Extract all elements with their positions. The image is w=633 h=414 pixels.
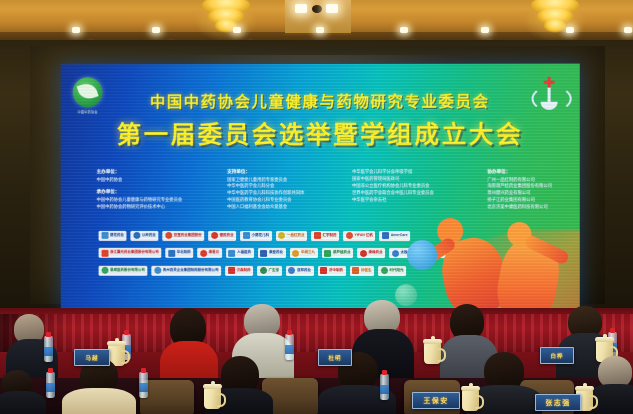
- sponsor-logo-mark-icon: [260, 267, 267, 274]
- credit-line: 中华医学会儿科学分会呼吸学组: [352, 169, 474, 176]
- sponsor-logo-name: 健民药业: [220, 234, 234, 238]
- sponsor-logo-mark-icon: [154, 267, 161, 274]
- sponsor-logo-mark-icon: [200, 249, 207, 256]
- sponsor-logo-mark-icon: [211, 232, 218, 239]
- sponsor-logo-mark-icon: [168, 249, 175, 256]
- bottle-cap: [141, 368, 146, 373]
- credit-heading: 承办单位：: [97, 189, 215, 195]
- projector-lamp-right-icon: [326, 4, 338, 13]
- banner-title-line1: 中国中药协会儿童健康与药物研究专业委员会: [61, 90, 580, 113]
- sponsor-logo-name: 华润三九: [301, 251, 315, 255]
- sponsor-logo-mark-icon: [101, 232, 108, 239]
- sponsor-logo: YIFAN 亿帆: [343, 231, 375, 241]
- sponsor-logo: 人福医药: [226, 248, 254, 258]
- tea-cup: [462, 390, 479, 411]
- bottle-cap: [48, 368, 53, 373]
- sponsor-logo-mark-icon: [314, 232, 321, 239]
- credit-line: 中国中药协会儿童健康与药物研究专业委员会: [97, 197, 215, 204]
- conference-hall-photo: 中国中药协会 中国中药协会儿童健康与药物研究专业委员会 第一届委员会选举暨学组成…: [0, 0, 633, 414]
- sponsor-logo-name: 贵州百灵企业集团制药股份有限公司: [163, 269, 219, 273]
- sponsor-logo-mark-icon: [165, 232, 172, 239]
- credit-line: 国家中医药管理局医政司: [352, 176, 474, 183]
- sponsor-logo: 恩威医药股份有限公司: [99, 265, 148, 275]
- credit-heading: 支持单位：: [227, 169, 339, 175]
- cup-knob: [431, 336, 435, 340]
- sponsor-logo-mark-icon: [228, 267, 235, 274]
- water-bottle: [44, 336, 53, 362]
- person-body: [0, 391, 46, 414]
- sponsor-logo-name: YIFAN 亿帆: [355, 234, 373, 238]
- chandelier-left: [198, 0, 254, 40]
- chair-back: [140, 380, 194, 414]
- name-placard-text: 张志强: [545, 398, 570, 408]
- sponsor-logo: 汉森制药: [225, 265, 253, 275]
- name-placard-text: 白桦: [550, 352, 563, 360]
- downlight-icon: [233, 27, 241, 33]
- sponsor-logo-name: 汉森制药: [237, 269, 251, 273]
- sponsor-logo-name: 人福医药: [237, 251, 251, 255]
- downlight-icon: [481, 27, 489, 33]
- name-placard-text: 王保安: [423, 396, 448, 406]
- person-front-2: [62, 358, 136, 414]
- sponsor-logo-mark-icon: [382, 232, 389, 239]
- cup-knob: [211, 381, 215, 385]
- downlight-icon: [316, 27, 324, 33]
- sponsor-logo-name: 汇宇制药: [322, 234, 336, 238]
- cup-knob: [115, 338, 119, 342]
- downlight-icon: [72, 27, 80, 33]
- bottle-cap: [382, 370, 387, 375]
- sponsor-logo-name: 亚邦药业: [297, 269, 311, 273]
- sponsor-logo-name: 小葵花儿科: [252, 234, 269, 238]
- sponsor-logo-name: 一品红药业: [287, 234, 304, 238]
- sponsor-logo-mark-icon: [133, 232, 140, 239]
- credit-line: 中国中药协会: [97, 177, 215, 184]
- credit-line: 中国人口福利基金会幼众爱基金: [227, 204, 339, 211]
- bottle-label: [139, 383, 148, 392]
- sponsor-logo: 好医生: [350, 266, 375, 276]
- sponsor-logo-mark-icon: [324, 250, 331, 257]
- sponsor-logo-mark-icon: [346, 232, 353, 239]
- sponsor-logo-name: 浙江震元药业集团股份有限公司: [110, 251, 159, 255]
- name-placard-text: 杜明: [328, 354, 341, 362]
- sponsor-logo-name: 广生堂: [269, 269, 279, 273]
- downlight-icon: [624, 27, 632, 33]
- projector-lamp-left-icon: [295, 4, 307, 13]
- sponsor-logo: 以岭药业: [130, 230, 158, 240]
- tea-cup: [204, 388, 221, 409]
- sponsor-logo-mark-icon: [101, 267, 108, 274]
- bottle-cap: [46, 332, 51, 337]
- sponsor-logo: 康臣药业: [258, 248, 286, 258]
- sponsor-logo-name: 华北制药: [177, 251, 191, 255]
- banner-title-line2: 第一届委员会选举暨学组成立大会: [61, 116, 580, 151]
- led-banner-screen: 中国中药协会 中国中药协会儿童健康与药物研究专业委员会 第一届委员会选举暨学组成…: [61, 64, 580, 313]
- credit-heading: 主办单位：: [97, 169, 215, 175]
- sponsor-logo-mark-icon: [292, 249, 299, 256]
- decorative-figures-graphic: [395, 202, 580, 312]
- decorative-dot-blue: [407, 240, 437, 270]
- cup-knob: [603, 334, 607, 338]
- sponsor-logo-name: 以岭药业: [142, 234, 156, 238]
- name-placard-text: 马越: [85, 354, 98, 362]
- bottle-label: [380, 385, 389, 394]
- chandelier-right: [527, 0, 583, 40]
- sponsor-logo: 贵州百灵企业集团制药股份有限公司: [151, 265, 221, 275]
- bottle-cap: [287, 330, 292, 335]
- sponsor-logo-mark-icon: [352, 267, 359, 274]
- credit-line: 中国中药协会药物研究评价技术中心: [97, 204, 215, 211]
- cup-knob: [583, 383, 587, 387]
- name-placard: 王保安: [412, 392, 460, 409]
- sponsor-logo: 广生堂: [257, 265, 281, 275]
- sponsor-logo-mark-icon: [381, 267, 388, 274]
- sponsor-logo-mark-icon: [288, 267, 295, 274]
- water-bottle: [139, 372, 148, 398]
- sponsor-logo: 亚宝药业集团股份: [162, 230, 204, 240]
- person-front-1: [0, 370, 46, 414]
- bottle-label: [285, 345, 294, 354]
- sponsor-logo-name: 葵花药业: [110, 234, 124, 237]
- sponsor-logo-name: 康缘药业: [369, 251, 383, 255]
- credit-line: 世界中医药学会联合会中医儿科专业委员会: [352, 190, 474, 197]
- sponsor-logo: 济中制药: [318, 265, 346, 275]
- sponsor-logo: 葵花药业: [99, 230, 127, 240]
- credit-line: 中国非公立医疗机构协会儿科专业委员会: [352, 183, 474, 190]
- sponsor-logo-mark-icon: [228, 249, 235, 256]
- bottle-cap: [610, 328, 615, 333]
- person-body: [62, 388, 136, 414]
- credit-column-1: 主办单位：中国中药协会承办单位：中国中药协会儿童健康与药物研究专业委员会中国中药…: [97, 169, 215, 225]
- bottle-label: [44, 347, 53, 356]
- tea-cup: [424, 343, 441, 364]
- sponsor-logo: 华北制药: [165, 248, 193, 258]
- credit-heading: 协办单位：: [487, 169, 579, 175]
- credit-column-2: 支持单位：国家卫健委儿童用药专家委员会中华中医药学会儿科分会中华中医药学会儿科科…: [227, 169, 339, 225]
- sponsor-logo-name: 葫芦娃药业: [333, 251, 351, 255]
- downlight-icon: [400, 27, 408, 33]
- sponsor-logo-mark-icon: [360, 250, 367, 257]
- sponsor-logo-mark-icon: [320, 267, 327, 274]
- sponsor-logo: 葫芦娃药业: [321, 248, 353, 258]
- sponsor-logo-name: 康恩贝: [209, 251, 219, 255]
- sponsor-logo-mark-icon: [278, 232, 285, 239]
- sponsor-logo-name: 亚宝药业集团股份: [174, 234, 202, 238]
- water-bottle: [46, 372, 55, 398]
- sponsor-logo: 汇宇制药: [311, 230, 339, 240]
- sponsor-logo-name: 康臣药业: [269, 251, 283, 255]
- water-bottle: [380, 374, 389, 400]
- bottle-label: [46, 383, 55, 392]
- sponsor-logo-name: 恩威医药股份有限公司: [110, 269, 145, 273]
- name-placard: 杜明: [318, 349, 352, 366]
- downlight-icon: [152, 27, 160, 33]
- name-placard: 马越: [74, 349, 110, 366]
- water-bottle: [285, 334, 294, 360]
- sponsor-logo-mark-icon: [243, 232, 250, 239]
- sponsor-logo-mark-icon: [260, 249, 267, 256]
- sponsor-logo-mark-icon: [101, 249, 108, 256]
- sponsor-logo: 康缘药业: [357, 248, 385, 258]
- sponsor-logo: 浙江震元药业集团股份有限公司: [99, 248, 162, 258]
- cup-knob: [469, 383, 473, 387]
- sponsor-logo-name: 济中制药: [329, 269, 343, 273]
- sponsor-logo: 亚邦药业: [286, 265, 314, 275]
- sponsor-logo: 一品红药业: [276, 230, 307, 240]
- projector-lens-icon: [312, 5, 322, 13]
- downlight-icon: [566, 27, 574, 33]
- bottle-cap: [124, 330, 129, 335]
- chandelier-tier: [544, 19, 566, 32]
- sponsor-logo: 华润三九: [290, 248, 318, 258]
- name-placard: 白桦: [540, 347, 574, 364]
- sponsor-logo: 小葵花儿科: [240, 230, 271, 240]
- name-placard: 张志强: [535, 394, 581, 411]
- sponsor-logo-name: 好医生: [361, 269, 372, 273]
- red-cross-icon: [544, 77, 555, 88]
- sponsor-logo: 健民药业: [208, 230, 236, 240]
- sponsor-logo: 康恩贝: [197, 248, 221, 258]
